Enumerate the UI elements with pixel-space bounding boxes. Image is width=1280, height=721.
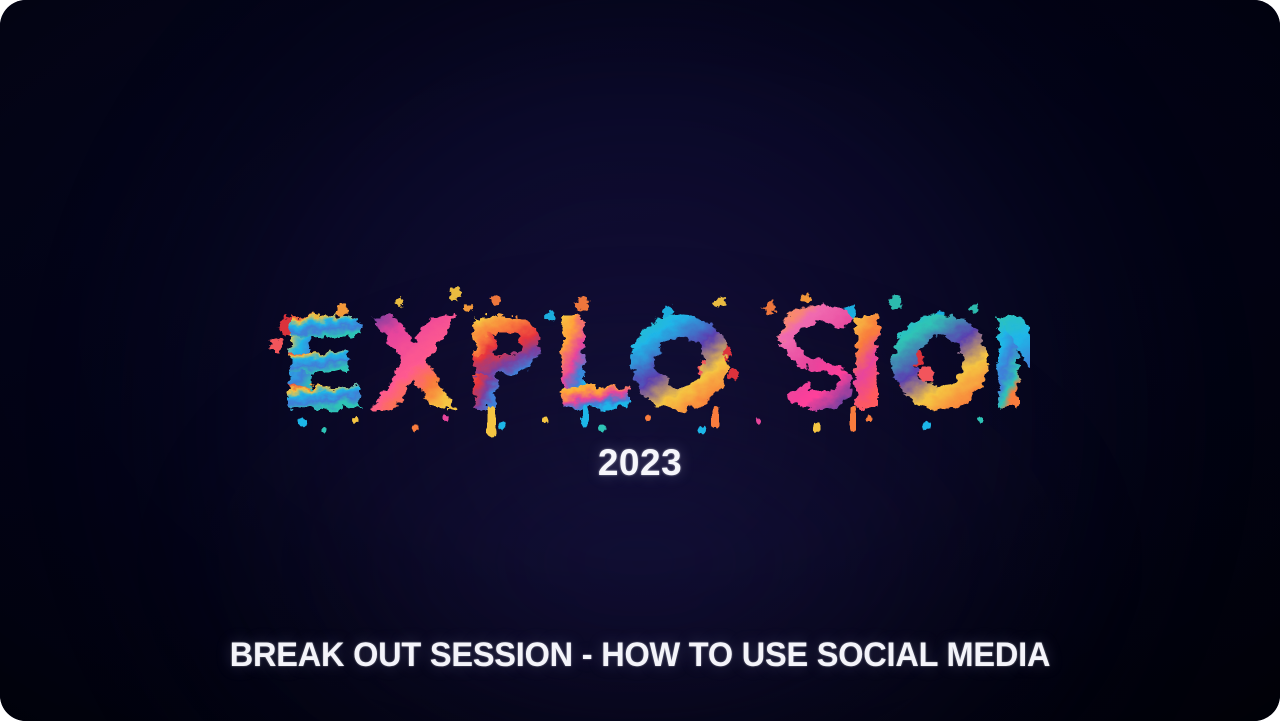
letter-I [856,316,878,408]
slide-content: 2023 BREAK OUT SESSION - HOW TO USE SOCI… [0,0,1280,721]
letter-P [474,316,540,408]
letter-O-1 [632,314,728,410]
letter-E [290,316,360,408]
letter-O-2 [892,314,988,410]
slide-year: 2023 [0,444,1280,481]
letter-S [781,305,855,411]
slide-subtitle: BREAK OUT SESSION - HOW TO USE SOCIAL ME… [29,503,1251,721]
letter-X [372,316,456,408]
explosion-wordmark-graphic [250,282,1030,442]
subtitle-line-1: BREAK OUT SESSION - HOW TO USE SOCIAL ME… [29,625,1251,686]
letter-L [562,316,628,408]
letter-N [998,316,1030,408]
splatter-speck-layer [298,406,1030,440]
presentation-slide: 2023 BREAK OUT SESSION - HOW TO USE SOCI… [0,0,1280,721]
